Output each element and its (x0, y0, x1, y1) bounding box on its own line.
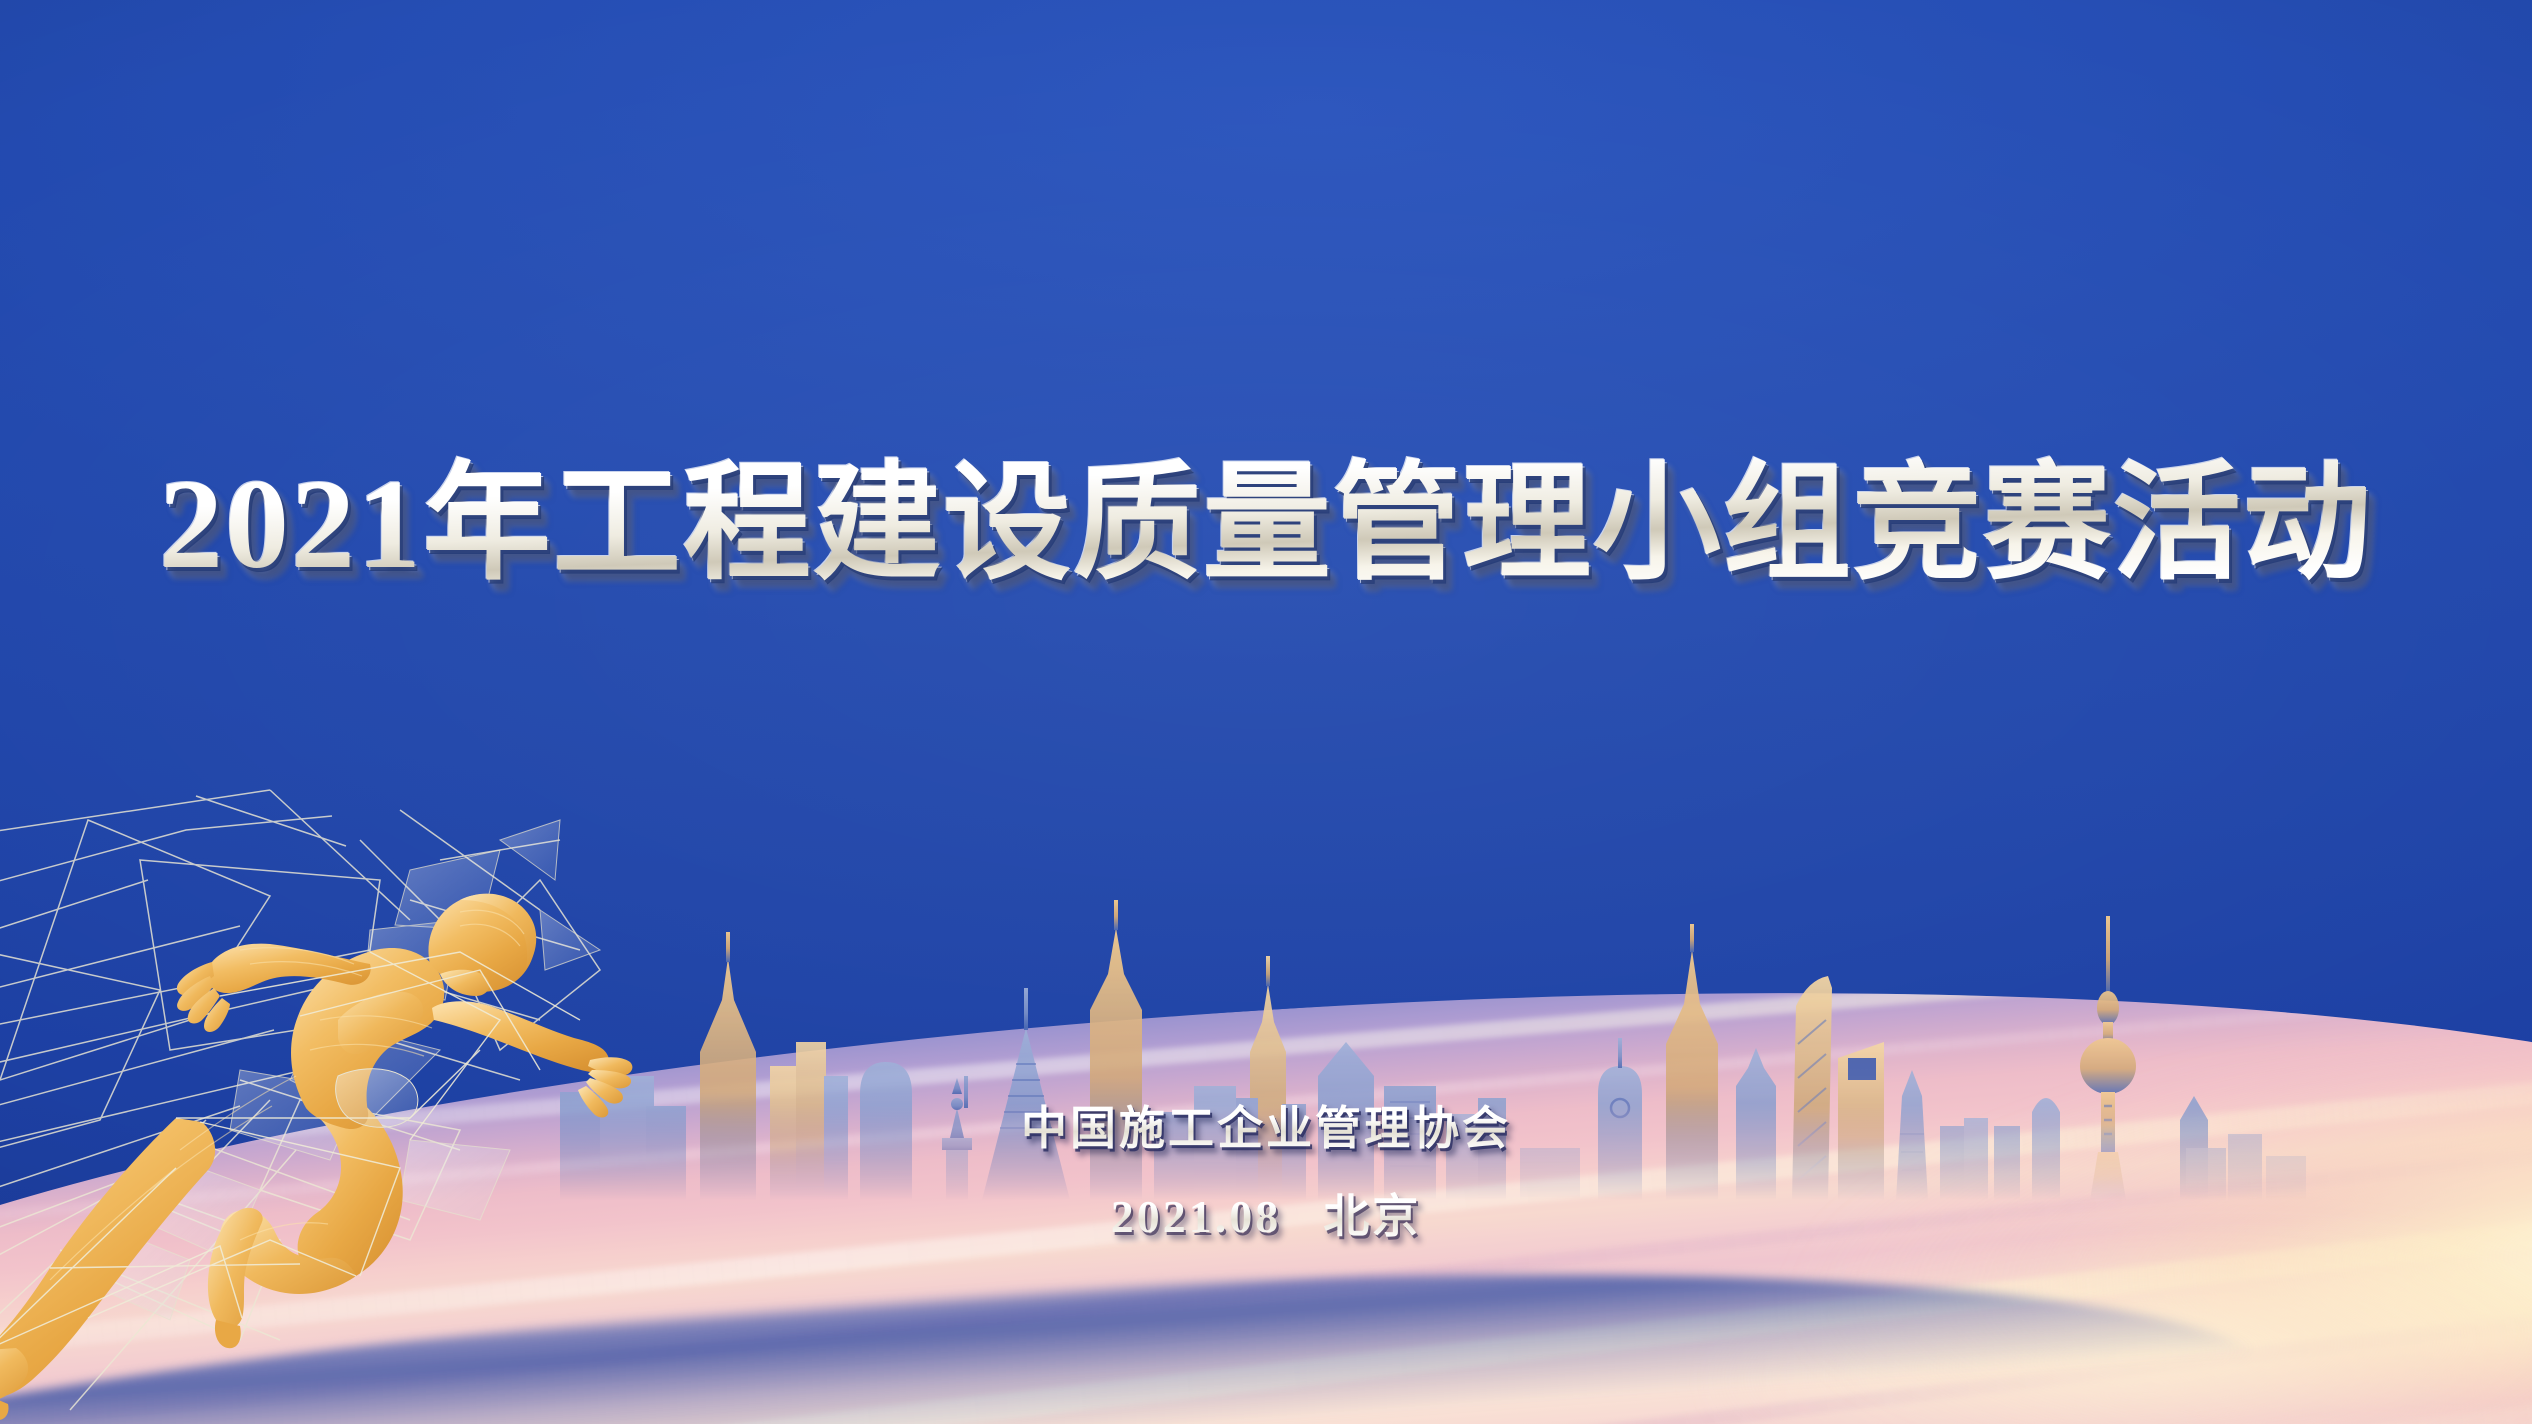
organization-name: 中国施工企业管理协会 (0, 1092, 2532, 1158)
page-title: 2021年工程建设质量管理小组竞赛活动 (0, 454, 2532, 595)
title-slide: 2021年工程建设质量管理小组竞赛活动 中国施工企业管理协会 2021.08北京 (0, 0, 2532, 1424)
date-and-city: 2021.08北京 (0, 1180, 2532, 1246)
runner-graphic (0, 720, 720, 1420)
city-text: 北京 (1323, 1191, 1421, 1242)
date-text: 2021.08 (1111, 1191, 1282, 1242)
footer-block: 中国施工企业管理协会 2021.08北京 (0, 1092, 2532, 1246)
